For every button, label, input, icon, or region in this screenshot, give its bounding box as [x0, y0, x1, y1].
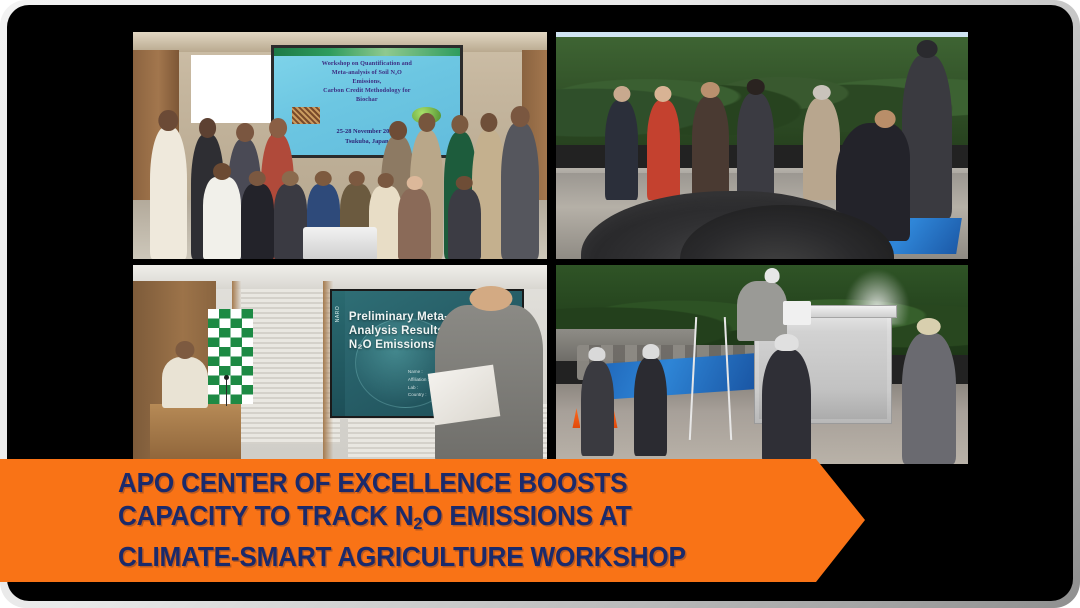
- ceiling-projector: [303, 227, 378, 259]
- sponsor-checker-banner: [191, 55, 274, 123]
- papers: [428, 364, 501, 424]
- headline-text: APO CENTER OF EXCELLENCE BOOSTS CAPACITY…: [118, 466, 686, 573]
- bucket: [783, 301, 812, 325]
- photo-biochar-pile-field-visit: [556, 32, 968, 259]
- slide-icon-biochar: [292, 107, 320, 124]
- screenshot-canvas: Workshop on Quantification and Meta-anal…: [0, 0, 1080, 608]
- microphone-icon: [226, 378, 227, 406]
- slide-sidebar-label: NARO: [335, 306, 341, 322]
- ladder: [692, 317, 733, 440]
- photo-group-photo: Workshop on Quantification and Meta-anal…: [133, 32, 547, 259]
- photo-presentation-meta-analysis: NARO Preliminary Meta- Analysis Results …: [133, 265, 547, 464]
- headline-line-3: CLIMATE-SMART AGRICULTURE WORKSHOP: [118, 540, 686, 573]
- photo-collage-grid: Workshop on Quantification and Meta-anal…: [133, 32, 968, 464]
- photo-kiln-demonstration: [556, 265, 968, 464]
- headline-line-2: CAPACITY TO TRACK N2O EMISSIONS AT: [118, 499, 686, 540]
- headline-line-1: APO CENTER OF EXCELLENCE BOOSTS: [118, 466, 686, 499]
- podium: [150, 404, 241, 464]
- sponsor-checker-banner: [208, 309, 254, 405]
- slide-title-text: Workshop on Quantification and Meta-anal…: [281, 60, 452, 105]
